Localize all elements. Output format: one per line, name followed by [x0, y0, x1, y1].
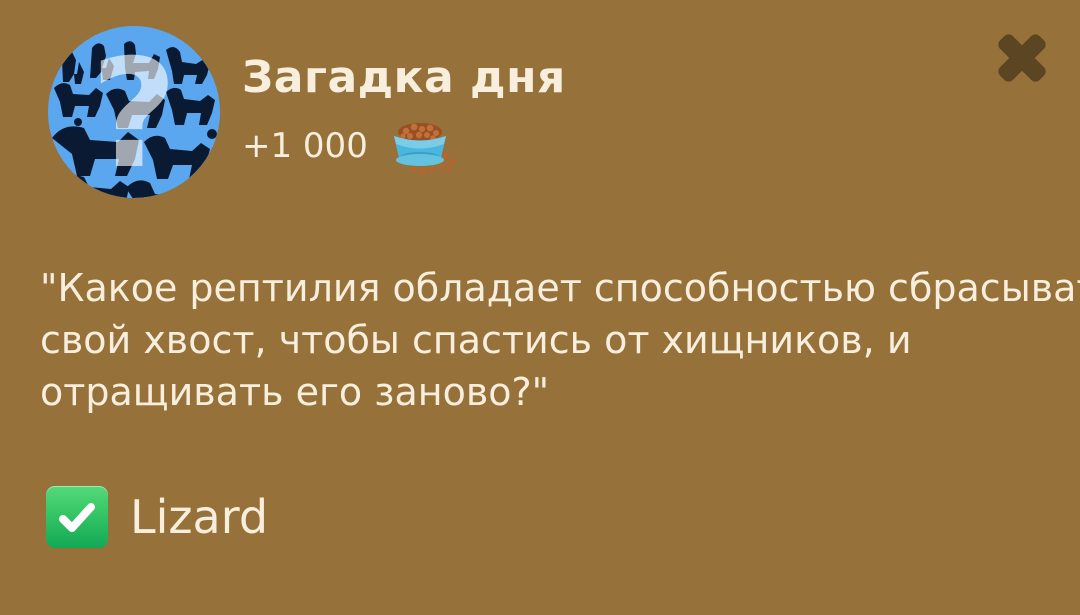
- food-bowl-icon: [386, 116, 460, 176]
- question-line: отращивать его заново?": [40, 366, 1040, 418]
- header-text-block: Загадка дня +1 000: [242, 26, 566, 176]
- reward-amount: +1 000: [242, 127, 368, 165]
- riddle-of-the-day-dialog: ? Загадка дня +1 000: [0, 0, 1080, 615]
- page-title: Загадка дня: [242, 54, 566, 102]
- animal-quiz-avatar-icon: ?: [48, 26, 220, 198]
- avatar: ?: [48, 26, 220, 198]
- close-button[interactable]: [986, 22, 1058, 94]
- svg-text:?: ?: [90, 28, 177, 198]
- dialog-header: ? Загадка дня +1 000: [48, 26, 566, 198]
- reward-row: +1 000: [242, 116, 566, 176]
- answer-label: Lizard: [130, 491, 268, 543]
- check-mark-icon: [55, 495, 99, 539]
- question-line: свой хвост, чтобы спастись от хищников, …: [40, 314, 1040, 366]
- answer-row: Lizard: [46, 486, 268, 548]
- question-line: "Какое рептилия обладает способностью сб…: [40, 262, 1040, 314]
- close-x-icon: [988, 24, 1056, 92]
- question-text: "Какое рептилия обладает способностью сб…: [40, 262, 1040, 418]
- status-badge: [46, 486, 108, 548]
